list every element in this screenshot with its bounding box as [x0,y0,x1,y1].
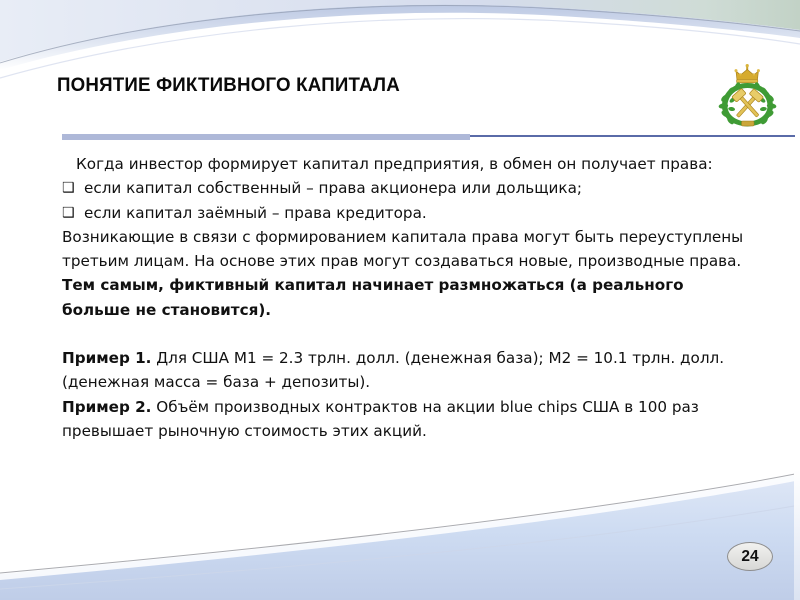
list-item: ❑ если капитал собственный – права акцио… [62,176,750,200]
list-item: ❑ если капитал заёмный – права кредитора… [62,201,750,225]
list-item-label: если капитал заёмный – права кредитора. [84,201,750,225]
example-2-paragraph: Пример 2. Объём производных контрактов н… [62,395,750,444]
slide-body: Когда инвестор формирует капитал предпри… [62,152,750,443]
page-title: ПОНЯТИЕ ФИКТИВНОГО КАПИТАЛА [57,74,400,97]
crown-icon [735,64,760,83]
slide: ПОНЯТИЕ ФИКТИВНОГО КАПИТАЛА [0,0,800,600]
example-1-paragraph: Пример 1. Для США М1 = 2.3 трлн. долл. (… [62,346,750,395]
page-number-badge: 24 [727,542,773,571]
top-swoosh-band [0,5,800,70]
bottom-swoosh-edge [0,473,800,573]
top-swoosh-fill [0,0,800,62]
bottom-swoosh-highlight [0,472,800,580]
top-swoosh-edge [0,6,800,63]
bottom-swoosh-fill [0,474,800,600]
example-2-label: Пример 2. [62,398,151,416]
emblem-banner [742,121,755,126]
example-1-label: Пример 1. [62,349,151,367]
explanation-bold-text: Тем самым, фиктивный капитал начинает ра… [62,276,684,318]
crossed-hammers-icon [732,88,764,120]
mining-university-emblem-icon [716,64,780,130]
example-1-text: Для США М1 = 2.3 трлн. долл. (денежная б… [62,349,724,391]
explanation-paragraph: Возникающие в связи с формированием капи… [62,225,750,322]
bullet-square-icon: ❑ [62,201,84,225]
right-edge-strip [794,470,800,600]
title-divider-accent [62,134,470,140]
top-swoosh-arc [0,19,800,78]
bottom-swoosh-arc [0,505,800,589]
intro-paragraph: Когда инвестор формирует капитал предпри… [62,152,750,176]
example-2-text: Объём производных контрактов на акции bl… [62,398,699,440]
explanation-normal-text: Возникающие в связи с формированием капи… [62,228,743,270]
bullet-square-icon: ❑ [62,176,84,200]
list-item-label: если капитал собственный – права акционе… [84,176,750,200]
paragraph-spacer [62,322,750,346]
